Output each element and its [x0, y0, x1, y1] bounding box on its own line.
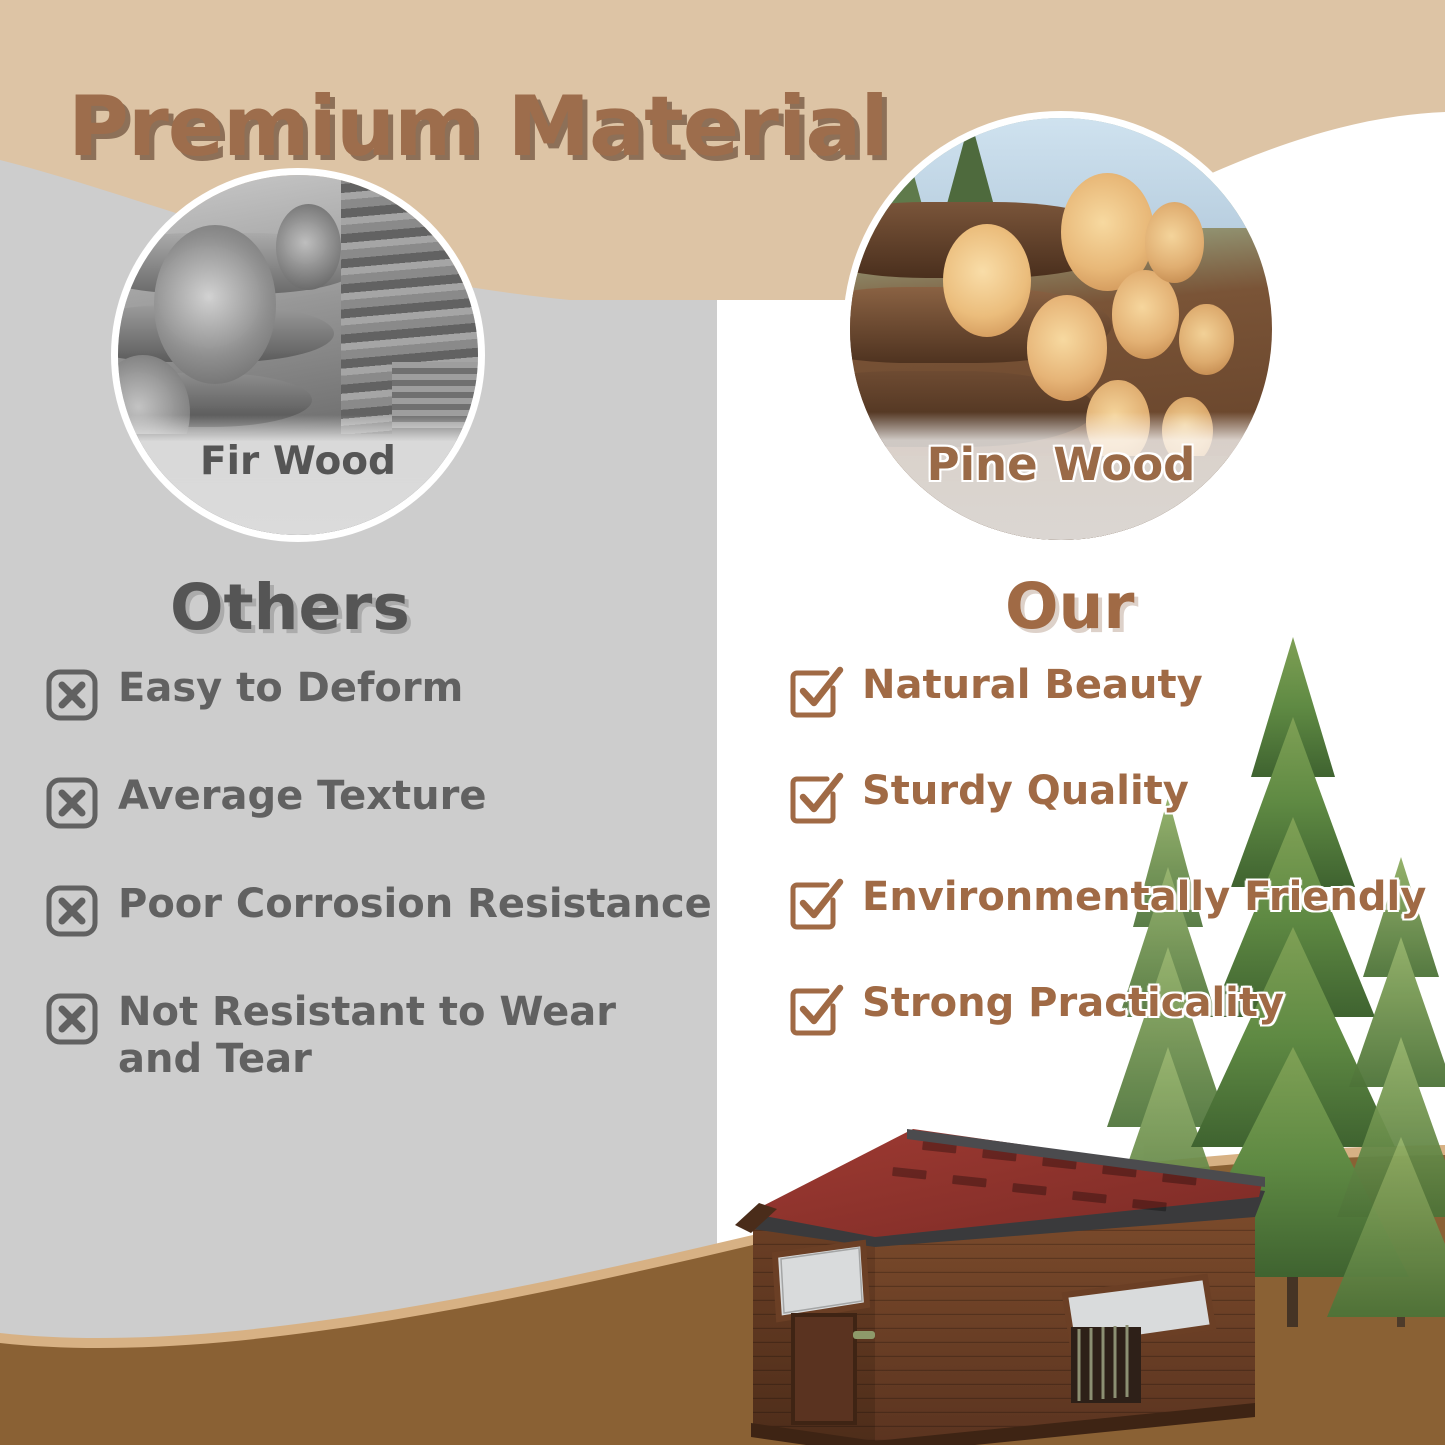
x-mark-icon	[46, 777, 98, 829]
list-item-label: Easy to Deform	[118, 665, 463, 712]
checkbox-check-icon	[790, 772, 842, 824]
list-item: Easy to Deform	[46, 665, 726, 721]
page-title: Premium Material	[68, 78, 888, 175]
others-feature-list: Easy to Deform Average Texture Poor Corr…	[46, 665, 726, 1135]
fir-wood-circle: Fir Wood	[118, 175, 478, 535]
premium-material-infographic: Premium Material	[0, 0, 1445, 1445]
pine-wood-circle: Pine Wood	[850, 118, 1272, 540]
checkbox-check-icon	[790, 984, 842, 1036]
our-heading: Our	[1005, 570, 1134, 643]
checkbox-check-icon	[790, 666, 842, 718]
list-item-label: Natural Beauty	[862, 662, 1203, 709]
x-mark-icon	[46, 885, 98, 937]
list-item-label: Average Texture	[118, 773, 487, 820]
list-item-label: Sturdy Quality	[862, 768, 1189, 815]
list-item: Sturdy Quality	[790, 768, 1445, 824]
pine-wood-caption: Pine Wood	[850, 412, 1272, 540]
x-mark-icon	[46, 993, 98, 1045]
list-item: Average Texture	[46, 773, 726, 829]
list-item: Poor Corrosion Resistance	[46, 881, 726, 937]
others-heading: Others	[170, 571, 410, 644]
checkbox-check-icon	[790, 878, 842, 930]
our-feature-list: Natural Beauty Sturdy Quality Environmen…	[790, 662, 1445, 1086]
list-item-label: Not Resistant to Wear and Tear	[118, 989, 648, 1083]
list-item: Natural Beauty	[790, 662, 1445, 718]
list-item: Not Resistant to Wear and Tear	[46, 989, 726, 1083]
list-item-label: Environmentally Friendly	[862, 874, 1426, 921]
list-item-label: Poor Corrosion Resistance	[118, 881, 712, 928]
list-item-label: Strong Practicality	[862, 980, 1284, 1027]
list-item: Environmentally Friendly	[790, 874, 1445, 930]
x-mark-icon	[46, 669, 98, 721]
list-item: Strong Practicality	[790, 980, 1445, 1036]
fir-wood-caption: Fir Wood	[118, 415, 478, 535]
